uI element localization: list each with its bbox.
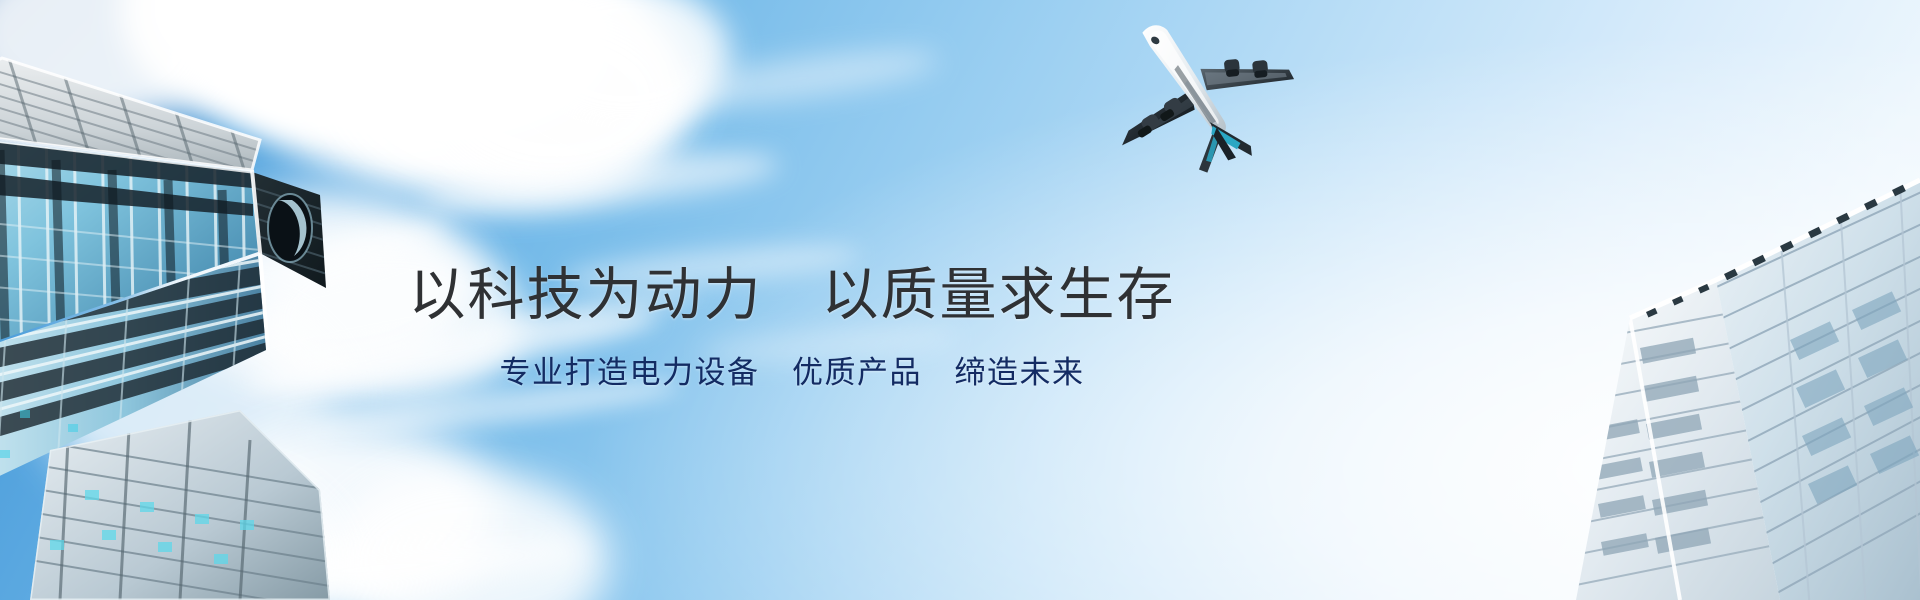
- airplane-icon: [1095, 5, 1305, 180]
- hero-banner: 以科技为动力 以质量求生存 专业打造电力设备 优质产品 缔造未来: [0, 0, 1920, 600]
- building-icon: [1480, 170, 1920, 600]
- building-icon: [0, 20, 410, 600]
- page-title: 以科技为动力 以质量求生存: [409, 266, 1176, 326]
- page-subtitle: 专业打造电力设备 优质产品 缔造未来: [409, 356, 1176, 390]
